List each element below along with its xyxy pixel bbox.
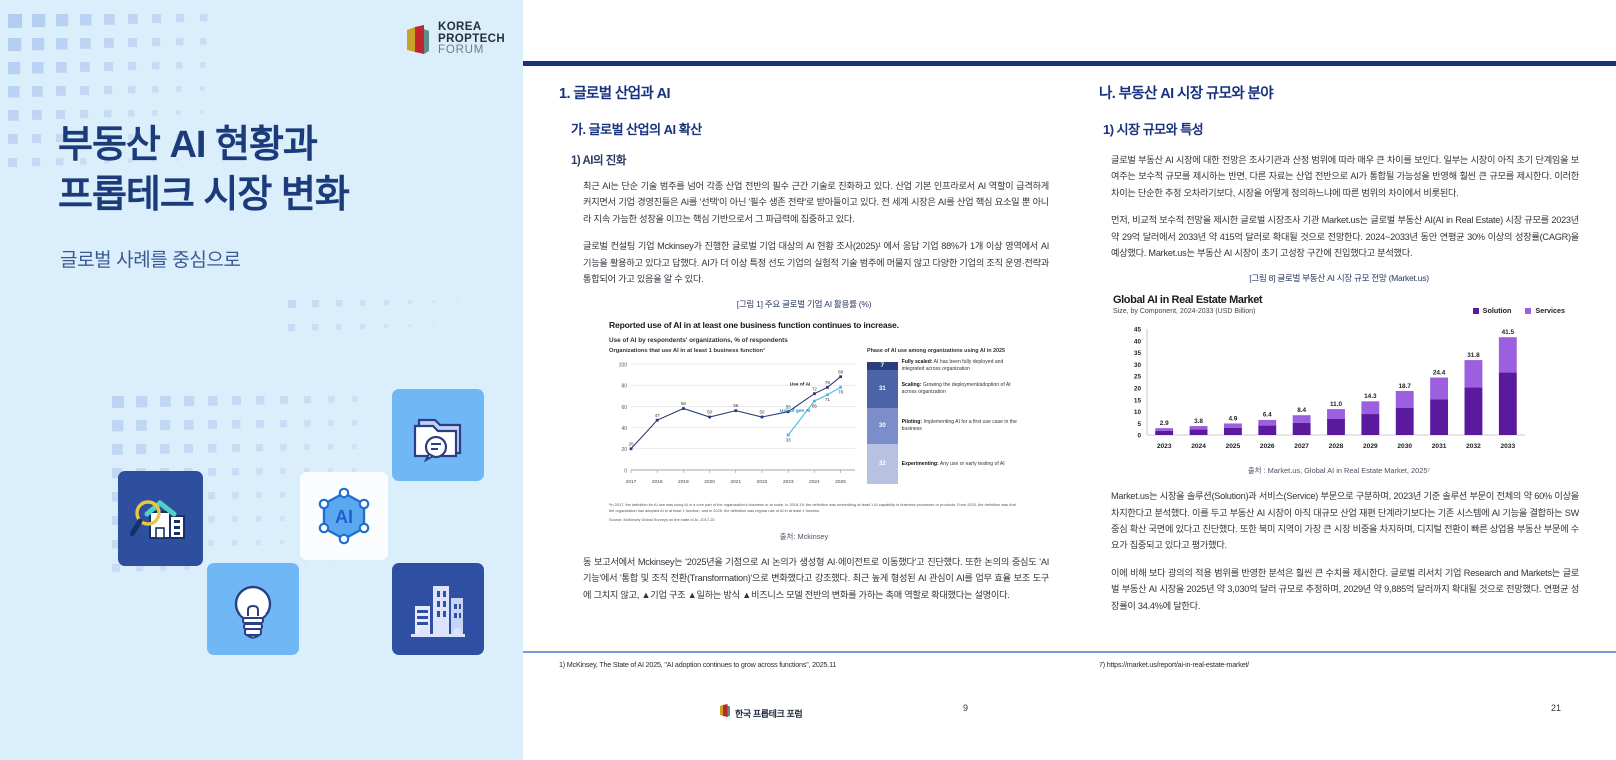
phase-panel-title: Phase of AI use among organizations usin…	[867, 348, 1021, 355]
svg-text:41.5: 41.5	[1502, 329, 1515, 336]
logo-line-3: FORUM	[438, 45, 505, 57]
cover-title-line-1: 부동산 AI 현황과	[58, 120, 349, 170]
svg-text:24.4: 24.4	[1433, 370, 1446, 377]
svg-text:2024: 2024	[1191, 443, 1206, 450]
mck-line-plot: Organizations that use AI in at least 1 …	[609, 348, 861, 498]
ai-hexagon-icon: AI	[313, 485, 375, 547]
svg-text:0: 0	[1137, 433, 1141, 440]
svg-text:6.4: 6.4	[1263, 412, 1272, 419]
svg-text:72: 72	[812, 387, 817, 392]
legend-item-services: Services	[1525, 306, 1565, 315]
cover-title: 부동산 AI 현황과 프롭테크 시장 변화	[58, 120, 349, 220]
mkt-bar-plot: 0510152025303540452.920233.820244.920256…	[1113, 319, 1565, 455]
mck-chart-subtitle: Use of AI by respondents' organizations,…	[609, 337, 1021, 344]
page-right: 나. 부동산 AI 시장 규모와 분야 1) 시장 규모와 특성 글로벌 부동산…	[1099, 82, 1579, 625]
svg-text:2028: 2028	[1329, 443, 1344, 450]
mck-footnote-1: ¹In 2017, the definition for AI use was …	[609, 502, 1021, 513]
phase-segment-2: 30	[867, 408, 898, 445]
svg-text:40: 40	[1134, 339, 1142, 346]
left-paragraph-2: 글로벌 컨설팅 기업 Mckinsey가 진행한 글로벌 기업 대상의 AI 현…	[583, 238, 1049, 287]
svg-text:31.8: 31.8	[1467, 352, 1480, 359]
document-spread: 1. 글로벌 산업과 AI 가. 글로벌 산업의 AI 확산 1) AI의 진화…	[523, 0, 1616, 760]
svg-text:2023: 2023	[783, 479, 794, 485]
svg-text:2027: 2027	[1294, 443, 1309, 450]
svg-text:0: 0	[624, 469, 627, 475]
city-buildings-icon	[407, 578, 469, 640]
svg-text:35: 35	[1134, 350, 1142, 357]
svg-text:2018: 2018	[652, 479, 663, 485]
svg-text:50: 50	[707, 410, 712, 415]
figure-marketus-real-estate-ai: Global AI in Real Estate Market Size, by…	[1109, 290, 1569, 459]
right-paragraph-4: 이에 비해 보다 광의의 적용 범위를 반영한 분석은 훨씬 큰 수치를 제시한…	[1111, 565, 1579, 614]
svg-text:5: 5	[1137, 421, 1141, 428]
right-paragraph-2: 먼저, 비교적 보수적 전망을 제시한 글로벌 시장조사 기관 Market.u…	[1111, 212, 1579, 261]
svg-text:2029: 2029	[1363, 443, 1378, 450]
figure-mckinsey-ai-adoption: Reported use of AI in at least one busin…	[605, 314, 1025, 525]
svg-text:20: 20	[629, 442, 634, 447]
svg-text:20: 20	[1134, 386, 1142, 393]
svg-text:2033: 2033	[1500, 443, 1515, 450]
cover-subtitle: 글로벌 사례를 중심으로	[60, 245, 241, 272]
mck-chart-title: Reported use of AI in at least one busin…	[609, 320, 1021, 330]
svg-text:4.9: 4.9	[1228, 416, 1237, 423]
svg-text:Use of AI: Use of AI	[790, 382, 811, 388]
figure-8-caption: [그림 8] 글로벌 부동산 AI 시장 규모 전망 (Market.us)	[1099, 272, 1579, 284]
svg-text:2020: 2020	[704, 479, 715, 485]
phase-stacked-bar: 7313032	[867, 362, 898, 484]
svg-text:25: 25	[1134, 374, 1142, 381]
slide-root: KOREA PROPTECH FORUM 부동산 AI 현황과 프롭테크 시장 …	[0, 0, 1616, 760]
svg-text:2025: 2025	[1226, 443, 1241, 450]
svg-text:2031: 2031	[1432, 443, 1447, 450]
svg-text:33: 33	[786, 438, 791, 443]
left-paragraph-1: 최근 AI는 단순 기술 범주를 넘어 각종 산업 전반의 필수 근간 기술로 …	[583, 178, 1049, 227]
phase-label-2: Piloting: Implementing AI for a first us…	[902, 408, 1021, 445]
svg-text:14.3: 14.3	[1364, 393, 1377, 400]
left-subsection-heading: 가. 글로벌 산업의 AI 확산	[571, 119, 1049, 138]
phase-label-0: Fully scaled: AI has been fully deployed…	[902, 362, 1021, 371]
figure-1-caption: [그림 1] 주요 글로벌 기업 AI 활용률 (%)	[559, 298, 1049, 310]
mkt-chart-title: Global AI in Real Estate Market	[1113, 294, 1565, 306]
folder-chat-icon	[407, 406, 469, 464]
footer-logo: 한국 프롭테크 포럼	[719, 703, 802, 723]
phase-segment-0: 7	[867, 362, 898, 371]
left-paragraph-3: 동 보고서에서 Mckinsey는 '2025년을 기점으로 AI 논의가 생성…	[583, 554, 1049, 603]
svg-text:78: 78	[838, 390, 843, 395]
svg-text:8.4: 8.4	[1297, 407, 1306, 414]
svg-text:3.8: 3.8	[1194, 418, 1203, 425]
svg-text:2017: 2017	[626, 479, 637, 485]
svg-text:2022: 2022	[757, 479, 768, 485]
svg-text:58: 58	[681, 401, 686, 406]
svg-text:2023: 2023	[1157, 443, 1172, 450]
svg-text:56: 56	[733, 403, 738, 408]
svg-text:45: 45	[1134, 327, 1142, 334]
mck-footnote-source: Source: McKinsey Global Surveys on the s…	[609, 517, 1021, 523]
svg-text:71: 71	[825, 397, 830, 402]
right-paragraph-1: 글로벌 부동산 AI 시장에 대한 전망은 조사기관과 산정 범위에 따라 매우…	[1111, 152, 1579, 201]
svg-text:10: 10	[1134, 409, 1142, 416]
svg-text:2024: 2024	[809, 479, 820, 485]
left-section-heading: 1. 글로벌 산업과 AI	[559, 82, 1049, 103]
right-section-heading: 나. 부동산 AI 시장 규모와 분야	[1099, 82, 1579, 103]
svg-text:2026: 2026	[1260, 443, 1275, 450]
footnote-right: 7) https://market.us/report/ai-in-real-e…	[1099, 660, 1249, 669]
logo-line-1: KOREA	[438, 22, 505, 34]
svg-text:18.7: 18.7	[1399, 383, 1412, 390]
logo-door-icon	[405, 25, 431, 55]
svg-text:88: 88	[838, 370, 843, 375]
tile-city-buildings	[392, 563, 484, 655]
svg-text:47: 47	[655, 413, 660, 418]
page-number-left: 9	[963, 703, 968, 713]
figure-1-source: 출처: Mckinsey	[559, 531, 1049, 542]
svg-text:AI: AI	[335, 507, 353, 527]
mck-phase-panel: Phase of AI use among organizations usin…	[867, 348, 1021, 498]
phase-label-3: Experimenting: Any use or early testing …	[902, 444, 1021, 483]
footer-logo-text: 한국 프롭테크 포럼	[735, 707, 802, 720]
svg-text:60: 60	[621, 405, 627, 411]
svg-text:50: 50	[760, 410, 765, 415]
mkt-chart-subtitle: Size, by Component, 2024-2033 (USD Billi…	[1113, 308, 1255, 315]
phase-label-1: Scaling: Growing the deployment/adoption…	[902, 370, 1021, 408]
svg-text:11.0: 11.0	[1330, 401, 1343, 408]
left-subsubsection-heading: 1) AI의 진화	[571, 152, 1049, 168]
footnote-left: 1) McKinsey, The State of AI 2025, "AI a…	[559, 660, 836, 669]
phase-label-list: Fully scaled: AI has been fully deployed…	[902, 362, 1021, 484]
figure-8-source: 출처 : Market.us, Global AI in Real Estate…	[1099, 465, 1579, 476]
svg-text:20: 20	[621, 447, 627, 453]
svg-text:Use of gen AI: Use of gen AI	[780, 408, 811, 414]
bottom-rule	[523, 651, 1616, 653]
house-search-icon	[130, 490, 192, 548]
mkt-legend: SolutionServices	[1473, 306, 1565, 315]
svg-text:40: 40	[621, 426, 627, 432]
svg-text:2019: 2019	[678, 479, 689, 485]
top-rule	[523, 61, 1616, 66]
svg-text:2.9: 2.9	[1160, 420, 1169, 427]
svg-text:100: 100	[619, 363, 628, 369]
right-subsection-heading: 1) 시장 규모와 특성	[1103, 119, 1579, 138]
svg-text:2021: 2021	[730, 479, 741, 485]
tile-house-search	[118, 471, 203, 566]
phase-segment-3: 32	[867, 444, 898, 483]
svg-text:65: 65	[812, 404, 817, 409]
tile-folder-chat	[392, 389, 484, 481]
svg-text:15: 15	[1134, 398, 1142, 405]
korea-proptech-forum-logo: KOREA PROPTECH FORUM	[405, 22, 505, 57]
cover-title-line-2: 프롭테크 시장 변화	[58, 170, 349, 220]
svg-text:30: 30	[1134, 362, 1142, 369]
svg-text:2025: 2025	[835, 479, 846, 485]
cover-panel: KOREA PROPTECH FORUM 부동산 AI 현황과 프롭테크 시장 …	[0, 0, 523, 760]
tile-lightbulb	[207, 563, 299, 655]
svg-text:2032: 2032	[1466, 443, 1481, 450]
phase-segment-1: 31	[867, 370, 898, 408]
legend-item-solution: Solution	[1473, 306, 1512, 315]
page-number-right: 21	[1551, 703, 1561, 713]
svg-text:78: 78	[825, 380, 830, 385]
svg-text:2030: 2030	[1397, 443, 1412, 450]
lightbulb-icon	[226, 578, 280, 640]
footer-logo-icon	[719, 703, 731, 723]
tile-ai-hexagon: AI	[300, 472, 388, 560]
svg-text:80: 80	[621, 384, 627, 390]
page-left: 1. 글로벌 산업과 AI 가. 글로벌 산업의 AI 확산 1) AI의 진화…	[559, 82, 1049, 614]
right-paragraph-3: Market.us는 시장을 솔루션(Solution)과 서비스(Servic…	[1111, 488, 1579, 554]
